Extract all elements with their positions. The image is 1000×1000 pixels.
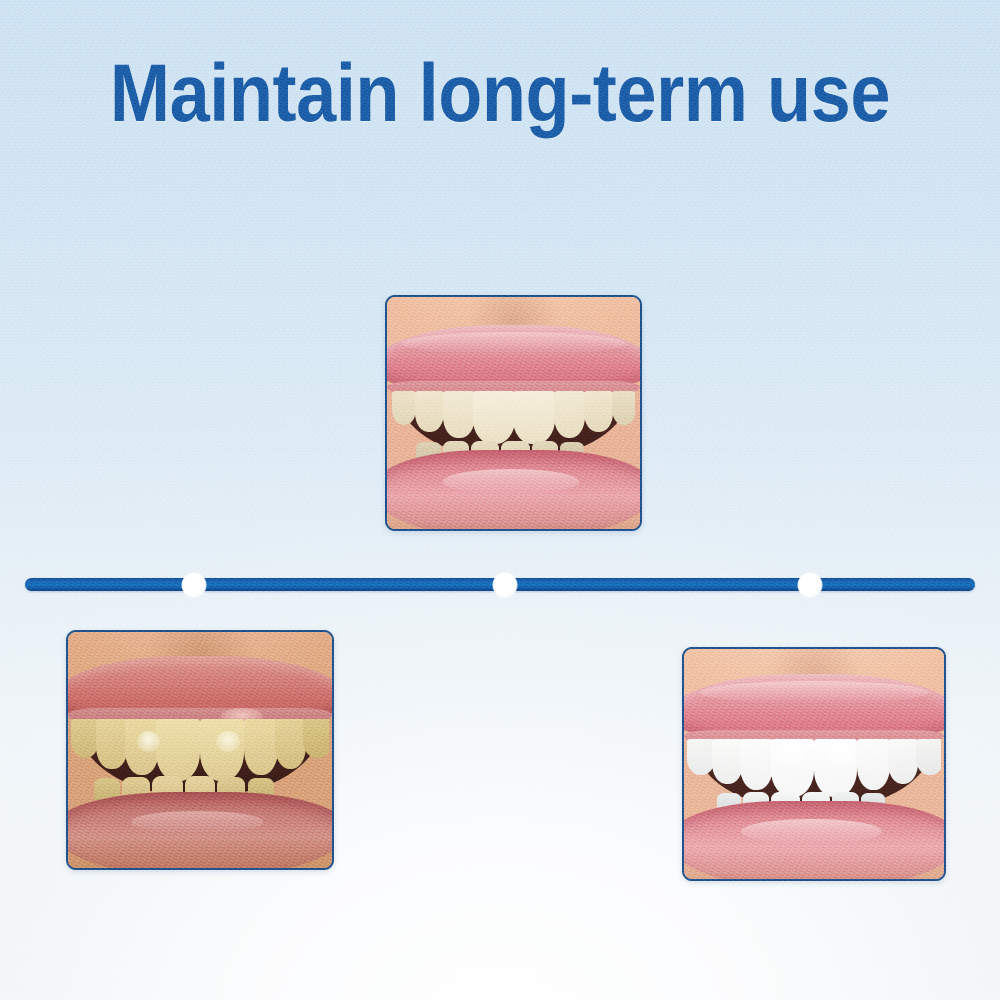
chin-shadow xyxy=(684,851,944,879)
chin-shadow xyxy=(387,501,640,529)
tooth xyxy=(200,719,244,781)
tooth xyxy=(857,739,890,790)
teeth-photo-before-image xyxy=(68,632,332,868)
teeth-photo-before xyxy=(66,630,334,870)
tooth xyxy=(554,391,586,438)
tooth xyxy=(740,739,773,790)
tooth xyxy=(96,719,127,769)
stage-2-marker[interactable] xyxy=(493,573,517,597)
tooth xyxy=(612,391,635,426)
upper-teeth-row xyxy=(71,719,330,783)
tooth xyxy=(584,391,613,432)
tooth xyxy=(125,719,159,775)
teeth-photo-during xyxy=(385,295,642,531)
tooth xyxy=(244,719,278,775)
page-title: Maintain long-term use xyxy=(60,48,940,140)
tooth xyxy=(415,391,444,432)
poster-canvas: Maintain long-term use xyxy=(0,0,1000,1000)
tooth xyxy=(888,739,919,784)
tooth xyxy=(513,391,554,444)
stage-1-marker[interactable] xyxy=(182,573,206,597)
tooth xyxy=(712,739,743,784)
tooth xyxy=(275,719,306,769)
tooth xyxy=(156,719,200,781)
tooth xyxy=(814,739,857,797)
upper-teeth-row xyxy=(687,739,942,799)
upper-teeth-row xyxy=(392,391,635,447)
tooth xyxy=(916,739,941,775)
teeth-photo-after xyxy=(682,647,946,881)
tooth xyxy=(771,739,814,797)
tooth xyxy=(443,391,475,438)
tooth xyxy=(71,719,99,757)
teeth-photo-during-image xyxy=(387,297,640,529)
upper-lip-highlight xyxy=(402,332,625,355)
tooth xyxy=(687,739,715,775)
tooth xyxy=(473,391,514,444)
tooth xyxy=(392,391,416,426)
chin-shadow xyxy=(68,835,332,868)
teeth-photo-after-image xyxy=(684,649,944,879)
tooth xyxy=(303,719,329,757)
progress-timeline xyxy=(25,578,975,591)
stage-3-marker[interactable] xyxy=(798,573,822,597)
